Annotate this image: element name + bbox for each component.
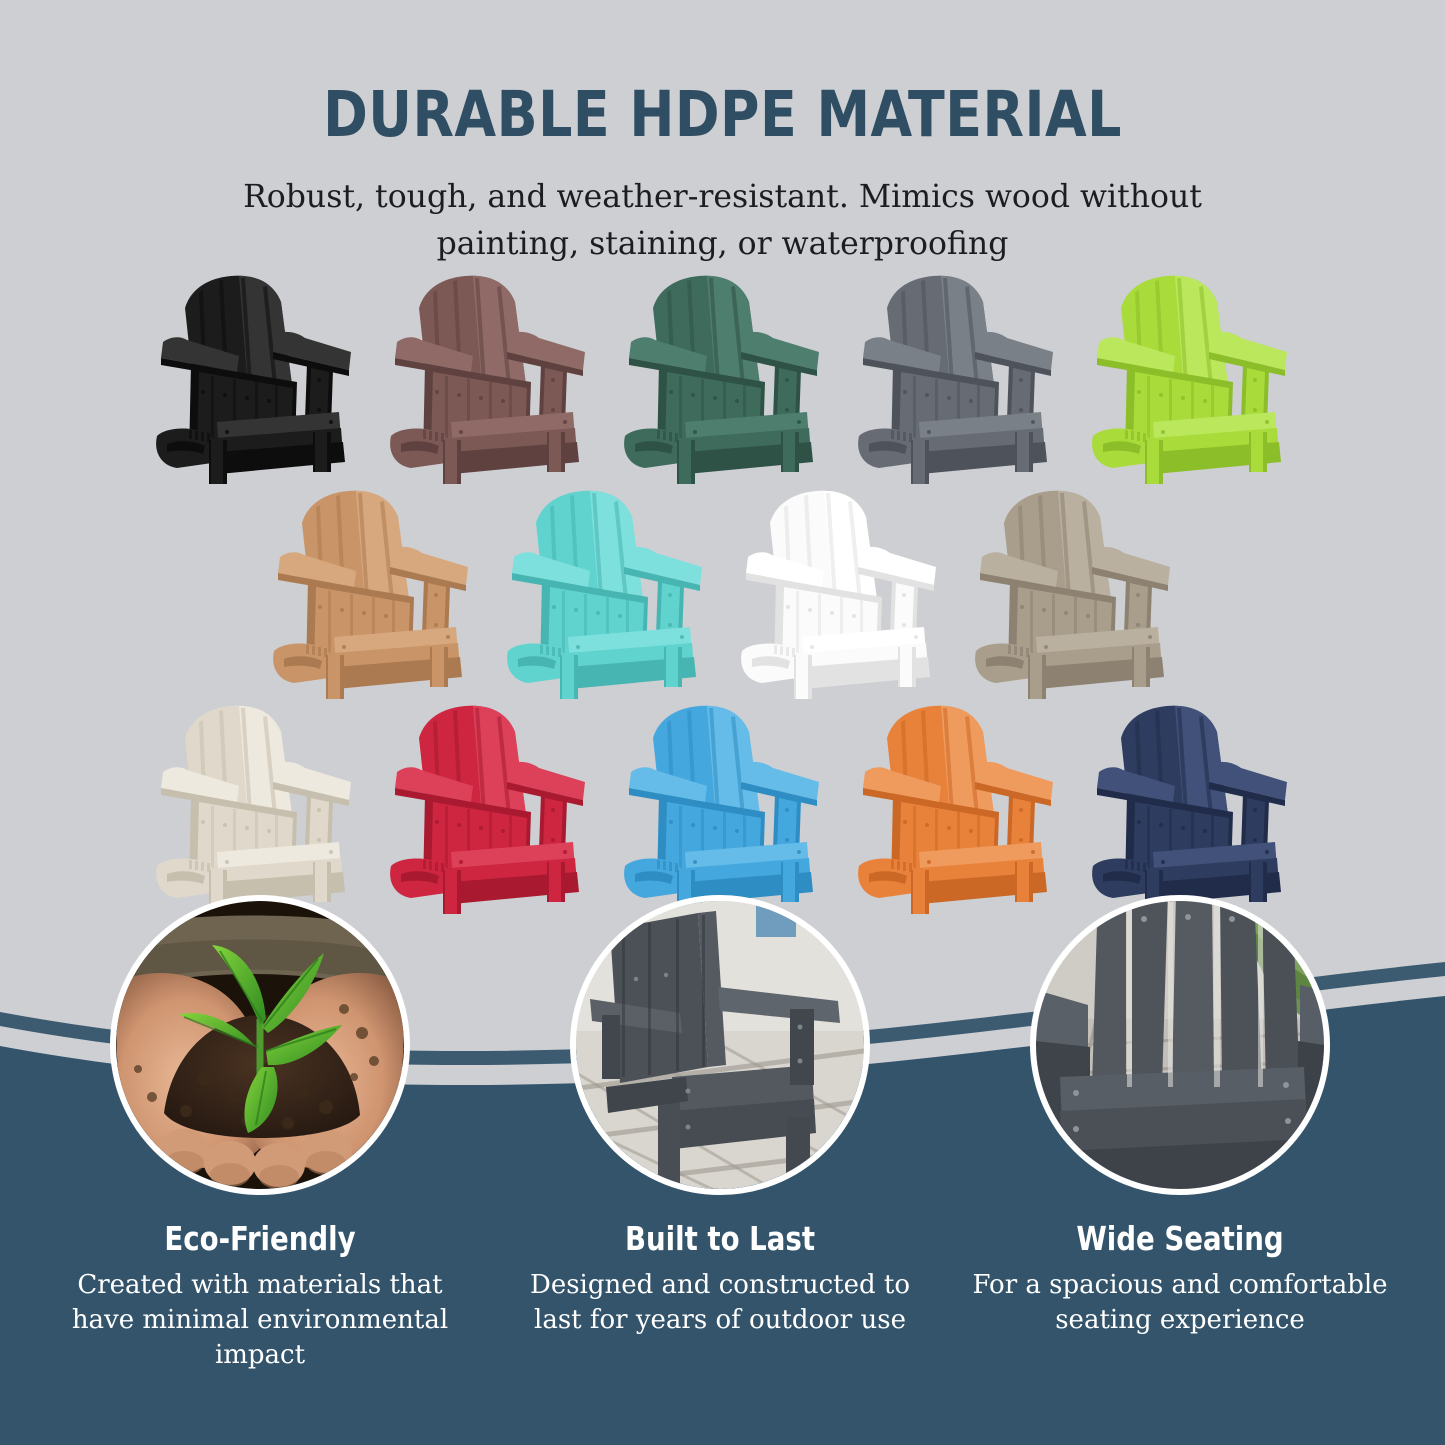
chair-swatch-sky-blue[interactable]	[606, 702, 840, 917]
chair-row	[0, 702, 1445, 917]
seedling-in-hands-photo	[110, 895, 410, 1195]
chair-swatch-grey[interactable]	[840, 272, 1074, 487]
grey-chair-on-patio-photo	[570, 895, 870, 1195]
chair-swatch-brown[interactable]	[372, 272, 606, 487]
feature-card-built-to-last: Built to Last Designed and constructed t…	[490, 895, 950, 1338]
feature-title: Built to Last	[506, 1219, 934, 1258]
header: DURABLE HDPE MATERIAL Robust, tough, and…	[0, 0, 1445, 269]
feature-description: Designed and constructed to last for yea…	[505, 1268, 935, 1338]
chair-swatch-dark-green[interactable]	[606, 272, 840, 487]
feature-description: Created with materials that have minimal…	[45, 1268, 475, 1372]
chair-seat-closeup-photo	[1030, 895, 1330, 1195]
page-subtitle: Robust, tough, and weather-resistant. Mi…	[213, 148, 1233, 269]
feature-title: Wide Seating	[966, 1219, 1394, 1258]
chair-swatch-orange[interactable]	[840, 702, 1074, 917]
features-section: Eco-Friendly Created with materials that…	[0, 895, 1445, 1445]
feature-description: For a spacious and comfortable seating e…	[965, 1268, 1395, 1338]
chair-swatch-lime-green[interactable]	[1074, 272, 1308, 487]
chair-swatch-black[interactable]	[138, 272, 372, 487]
chair-swatch-red[interactable]	[372, 702, 606, 917]
chair-swatch-white[interactable]	[723, 487, 957, 702]
product-infographic: DURABLE HDPE MATERIAL Robust, tough, and…	[0, 0, 1445, 1445]
chair-color-grid	[0, 272, 1445, 917]
chair-swatch-ivory[interactable]	[138, 702, 372, 917]
feature-title: Eco-Friendly	[46, 1219, 474, 1258]
chair-swatch-navy-blue[interactable]	[1074, 702, 1308, 917]
chair-row	[0, 487, 1445, 702]
feature-card-eco-friendly: Eco-Friendly Created with materials that…	[30, 895, 490, 1372]
chair-swatch-turquoise[interactable]	[489, 487, 723, 702]
chair-row	[0, 272, 1445, 487]
feature-card-wide-seating: Wide Seating For a spacious and comforta…	[950, 895, 1410, 1338]
chair-swatch-teak[interactable]	[255, 487, 489, 702]
page-title: DURABLE HDPE MATERIAL	[36, 0, 1409, 148]
chair-swatch-weathered-wood[interactable]	[957, 487, 1191, 702]
